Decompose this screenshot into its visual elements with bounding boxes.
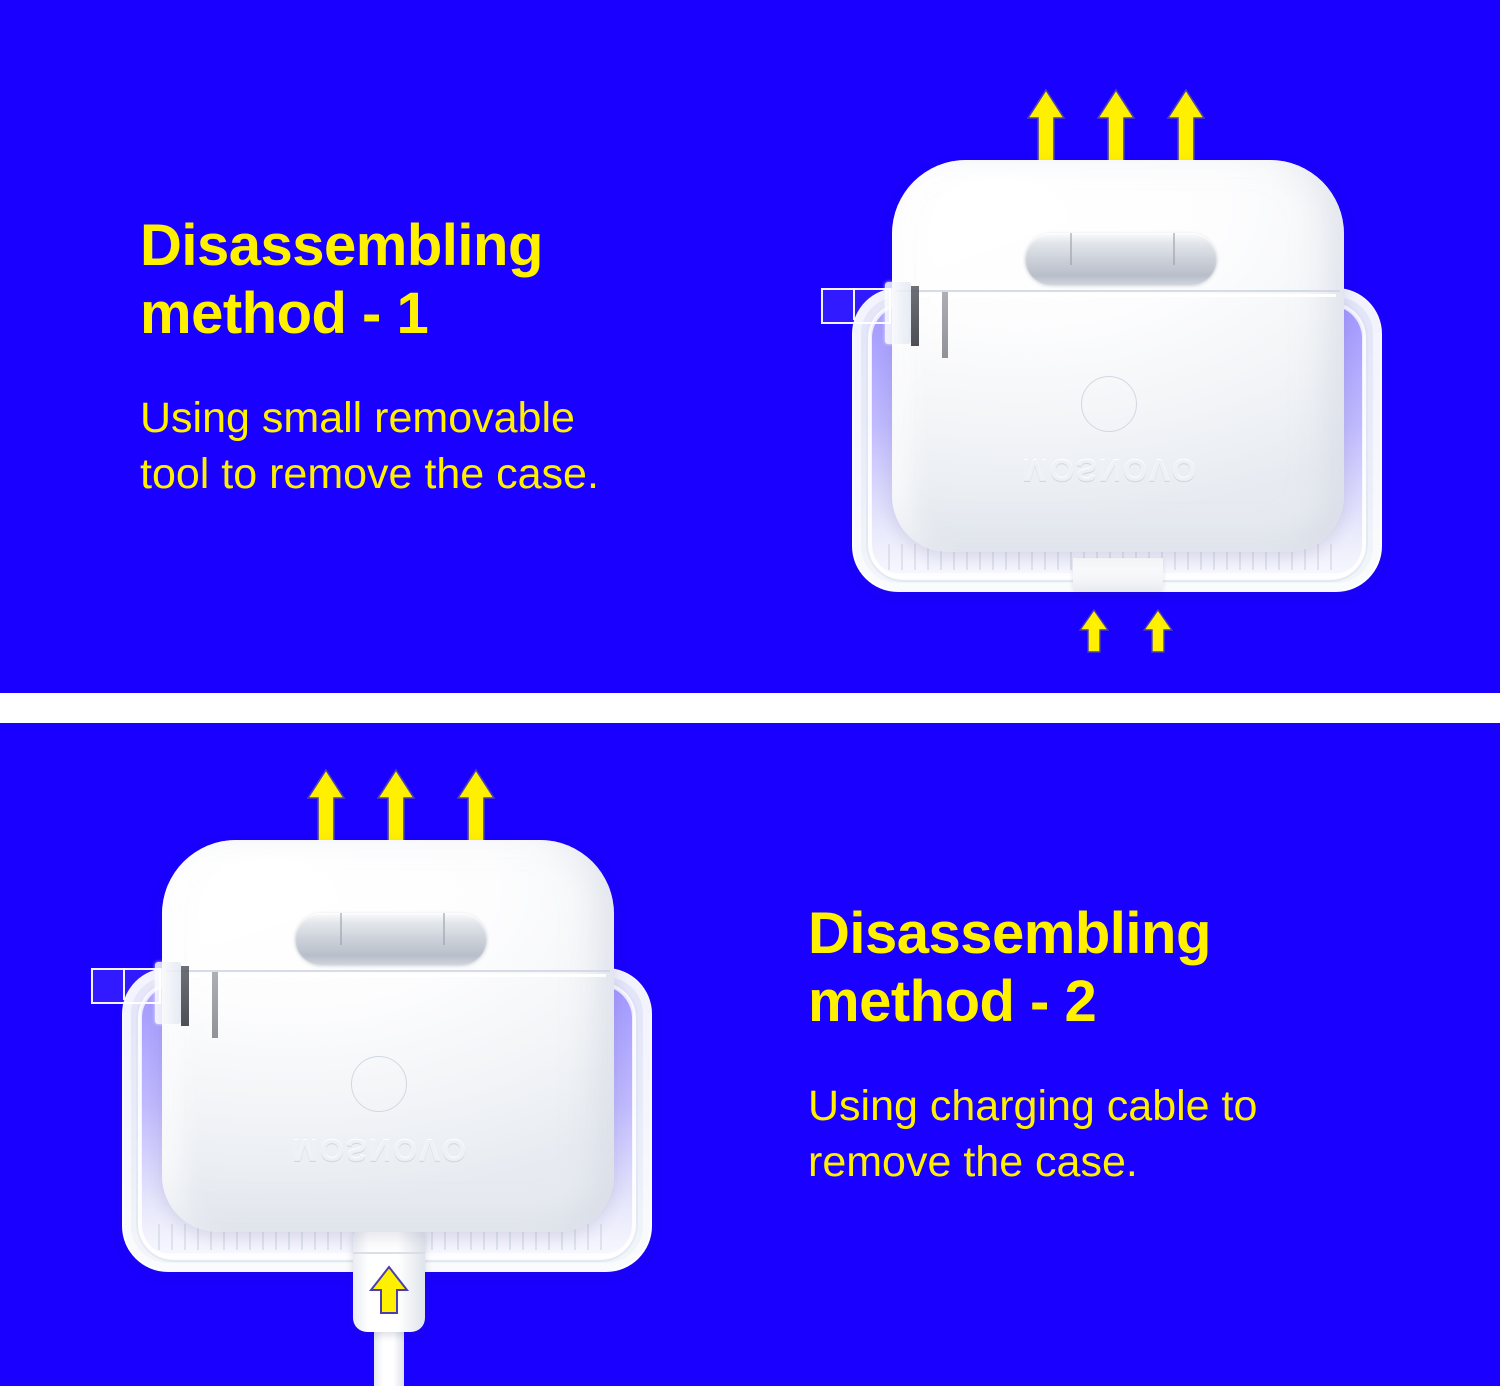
hinge-notch-left [1070,233,1072,265]
product-image-method-2: MOSNOVO [100,820,670,1360]
text-block-method-1: Disassembling method - 1 Using small rem… [140,212,790,503]
pairing-button-circle [351,1056,407,1112]
brand-emboss-label: MOSNOVO [1005,452,1215,488]
panel-method-1: Disassembling method - 1 Using small rem… [0,0,1500,693]
case-hinge-bar [1025,233,1217,285]
charging-cable-wire [374,1326,404,1386]
case-lid-seam [166,970,610,972]
removable-tool-tab [821,288,891,324]
up-arrow-bottom-1 [1078,608,1110,654]
product-image-method-1: MOSNOVO [830,140,1400,610]
connector-seam-line [353,1252,425,1254]
hinge-notch-right [1173,233,1175,265]
case-lid-seam-highlight [170,974,606,977]
shell-bottom-tab [1073,558,1163,592]
subtitle-method-2: Using charging cable to remove the case. [808,1079,1468,1191]
case-lid-seam-highlight [900,294,1336,297]
panel-divider [0,693,1500,723]
up-arrow-on-connector [368,1264,410,1316]
case-lid-seam [896,290,1340,292]
removable-tool-shadow [911,286,919,346]
removable-tool-tab [91,968,161,1004]
pairing-button-circle [1081,376,1137,432]
brand-emboss-label: MOSNOVO [275,1132,485,1168]
subtitle-method-1: Using small removable tool to remove the… [140,391,790,503]
hinge-notch-right [443,913,445,945]
removable-tool-tab-divider [853,288,855,320]
instruction-graphic: Disassembling method - 1 Using small rem… [0,0,1500,1386]
removable-tool-shadow-2 [212,972,218,1038]
heading-method-2: Disassembling method - 2 [808,900,1468,1037]
heading-method-1: Disassembling method - 1 [140,212,790,349]
removable-tool-shadow-2 [942,292,948,358]
case-hinge-bar [295,913,487,965]
up-arrow-bottom-2 [1142,608,1174,654]
panel-method-2: Disassembling method - 2 Using charging … [0,723,1500,1386]
hinge-notch-left [340,913,342,945]
removable-tool-shadow [181,966,189,1026]
text-block-method-2: Disassembling method - 2 Using charging … [808,900,1468,1191]
removable-tool-tab-divider [123,968,125,1000]
